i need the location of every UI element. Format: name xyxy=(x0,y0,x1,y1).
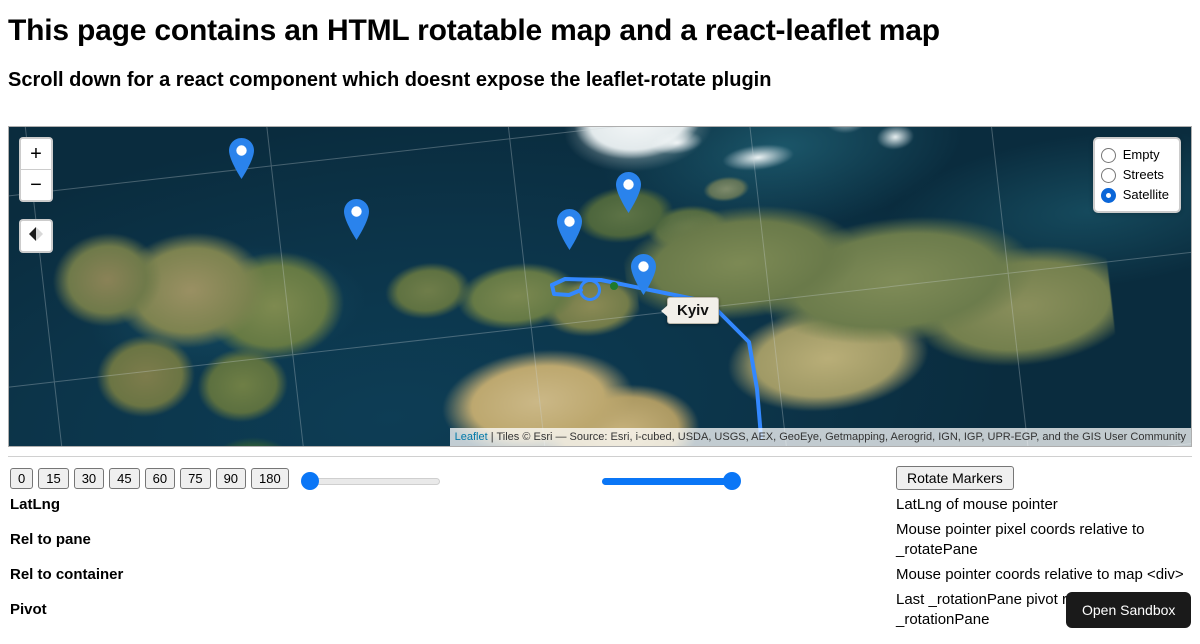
leaflet-map[interactable]: Kyiv + − Empty Streets xyxy=(8,126,1192,447)
layers-control[interactable]: Empty Streets Satellite xyxy=(1093,137,1181,213)
marker-great-lakes[interactable] xyxy=(344,199,369,240)
layer-label-empty: Empty xyxy=(1123,146,1160,164)
zoom-slider-fill xyxy=(602,478,732,485)
circle-marker[interactable] xyxy=(579,279,601,301)
desc-pixel-coords-rotatepane: Mouse pointer pixel coords relative to _… xyxy=(896,520,1196,560)
zoom-control[interactable]: + − xyxy=(19,137,53,202)
desc-latlng-pointer: LatLng of mouse pointer xyxy=(896,495,1196,515)
layer-label-streets: Streets xyxy=(1123,166,1164,184)
page-subtitle: Scroll down for a react component which … xyxy=(8,69,1200,91)
radio-streets-icon[interactable] xyxy=(1101,168,1116,183)
zoom-slider-thumb[interactable] xyxy=(723,472,741,490)
page-title: This page contains an HTML rotatable map… xyxy=(8,14,1200,47)
page-root: This page contains an HTML rotatable map… xyxy=(0,14,1200,644)
bearing-slider-thumb[interactable] xyxy=(301,472,319,490)
bearing-slider-track[interactable] xyxy=(310,478,440,485)
label-rel-to-pane: Rel to pane xyxy=(10,531,123,549)
open-sandbox-button[interactable]: Open Sandbox xyxy=(1066,592,1191,628)
layer-label-satellite: Satellite xyxy=(1123,186,1169,204)
angle-button-group: 0 15 30 45 60 75 90 180 xyxy=(10,468,289,489)
desc-coords-map-div: Mouse pointer coords relative to map <di… xyxy=(896,565,1196,585)
label-latlng: LatLng xyxy=(10,496,123,514)
marker-united-kingdom[interactable] xyxy=(557,209,582,250)
leaflet-link[interactable]: Leaflet xyxy=(455,431,488,443)
zoom-in-button[interactable]: + xyxy=(21,139,51,170)
section-divider xyxy=(8,456,1192,457)
marker-tooltip-kyiv: Kyiv xyxy=(667,297,719,324)
angle-button-75[interactable]: 75 xyxy=(180,468,210,489)
label-pivot: Pivot xyxy=(10,601,123,619)
angle-button-60[interactable]: 60 xyxy=(145,468,175,489)
attribution-text: Tiles © Esri — Source: Esri, i-cubed, US… xyxy=(496,431,1186,443)
zoom-out-button[interactable]: − xyxy=(21,170,51,200)
layer-option-empty[interactable]: Empty xyxy=(1101,145,1169,165)
radio-empty-icon[interactable] xyxy=(1101,148,1116,163)
dot-marker[interactable] xyxy=(610,282,618,290)
marker-scandinavia[interactable] xyxy=(616,172,641,213)
marker-kyiv[interactable] xyxy=(631,254,656,295)
rotate-markers-button[interactable]: Rotate Markers xyxy=(896,466,1014,490)
angle-button-0[interactable]: 0 xyxy=(10,468,33,489)
radio-satellite-icon[interactable] xyxy=(1101,188,1116,203)
rotate-control[interactable] xyxy=(19,219,53,253)
map-attribution: Leaflet | Tiles © Esri — Source: Esri, i… xyxy=(450,428,1191,446)
bearing-slider[interactable] xyxy=(310,472,440,492)
marker-pacific-northwest[interactable] xyxy=(229,138,254,179)
angle-button-90[interactable]: 90 xyxy=(216,468,246,489)
layer-option-satellite[interactable]: Satellite xyxy=(1101,185,1169,205)
angle-button-45[interactable]: 45 xyxy=(109,468,139,489)
angle-button-180[interactable]: 180 xyxy=(251,468,289,489)
compass-needle-icon xyxy=(27,225,45,248)
angle-button-15[interactable]: 15 xyxy=(38,468,68,489)
label-rel-to-container: Rel to container xyxy=(10,566,123,584)
readout-labels-left: LatLng Rel to pane Rel to container Pivo… xyxy=(10,496,123,636)
angle-button-30[interactable]: 30 xyxy=(74,468,104,489)
zoom-slider[interactable] xyxy=(602,472,732,492)
controls-section: 0 15 30 45 60 75 90 180 LatLng Rel to pa… xyxy=(0,466,1200,644)
layer-option-streets[interactable]: Streets xyxy=(1101,165,1169,185)
